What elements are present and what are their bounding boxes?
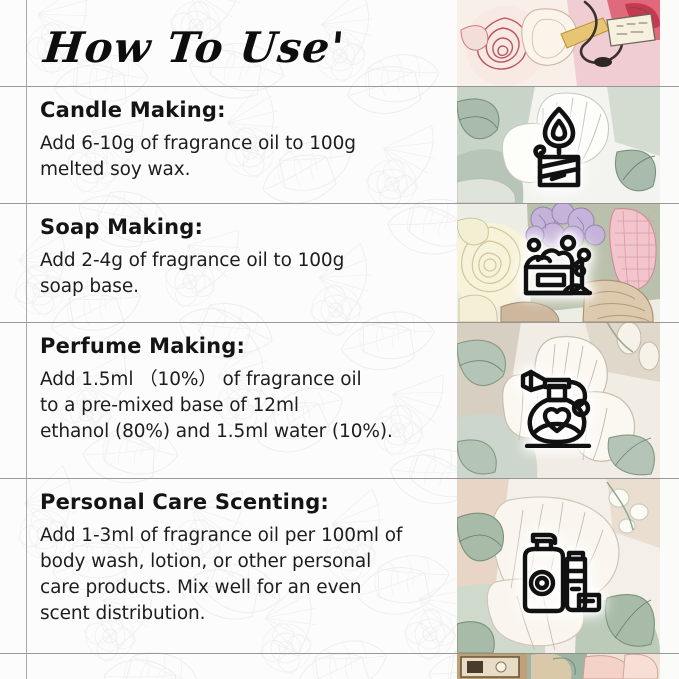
section-personal-care-scenting: Personal Care Scenting: Add 1-3ml of fra… xyxy=(40,490,450,627)
section-body: Add 1-3ml of fragrance oil per 100ml of … xyxy=(40,523,450,627)
roses-and-vintage-band xyxy=(457,0,660,86)
botanical-photo-strip xyxy=(457,0,660,679)
blossoms-berries-band xyxy=(457,203,660,322)
section-heading: Personal Care Scenting: xyxy=(40,490,450,514)
section-heading: Perfume Making: xyxy=(40,334,450,358)
section-body: Add 6-10g of fragrance oil to 100g melte… xyxy=(40,131,450,183)
section-soap-making: Soap Making: Add 2-4g of fragrance oil t… xyxy=(40,215,450,300)
section-body: Add 1.5ml （10%） of fragrance oil to a pr… xyxy=(40,367,450,445)
section-candle-making: Candle Making: Add 6-10g of fragrance oi… xyxy=(40,98,450,183)
section-heading: Candle Making: xyxy=(40,98,450,122)
vintage-still-life-band xyxy=(457,653,660,679)
section-perfume-making: Perfume Making: Add 1.5ml （10%） of fragr… xyxy=(40,334,450,445)
section-heading: Soap Making: xyxy=(40,215,450,239)
sage-leaves-band xyxy=(457,86,660,203)
soft-petals-band xyxy=(457,478,660,653)
section-body: Add 2-4g of fragrance oil to 100g soap b… xyxy=(40,248,450,300)
how-to-use-infographic: How To Use' Candle Making: Add 6-10g of … xyxy=(0,0,679,679)
magnolia-pods-band xyxy=(457,322,660,478)
instructions-column: How To Use' Candle Making: Add 6-10g of … xyxy=(0,0,457,679)
page-title: How To Use' xyxy=(44,14,444,80)
page-title-text: How To Use' xyxy=(41,23,347,72)
